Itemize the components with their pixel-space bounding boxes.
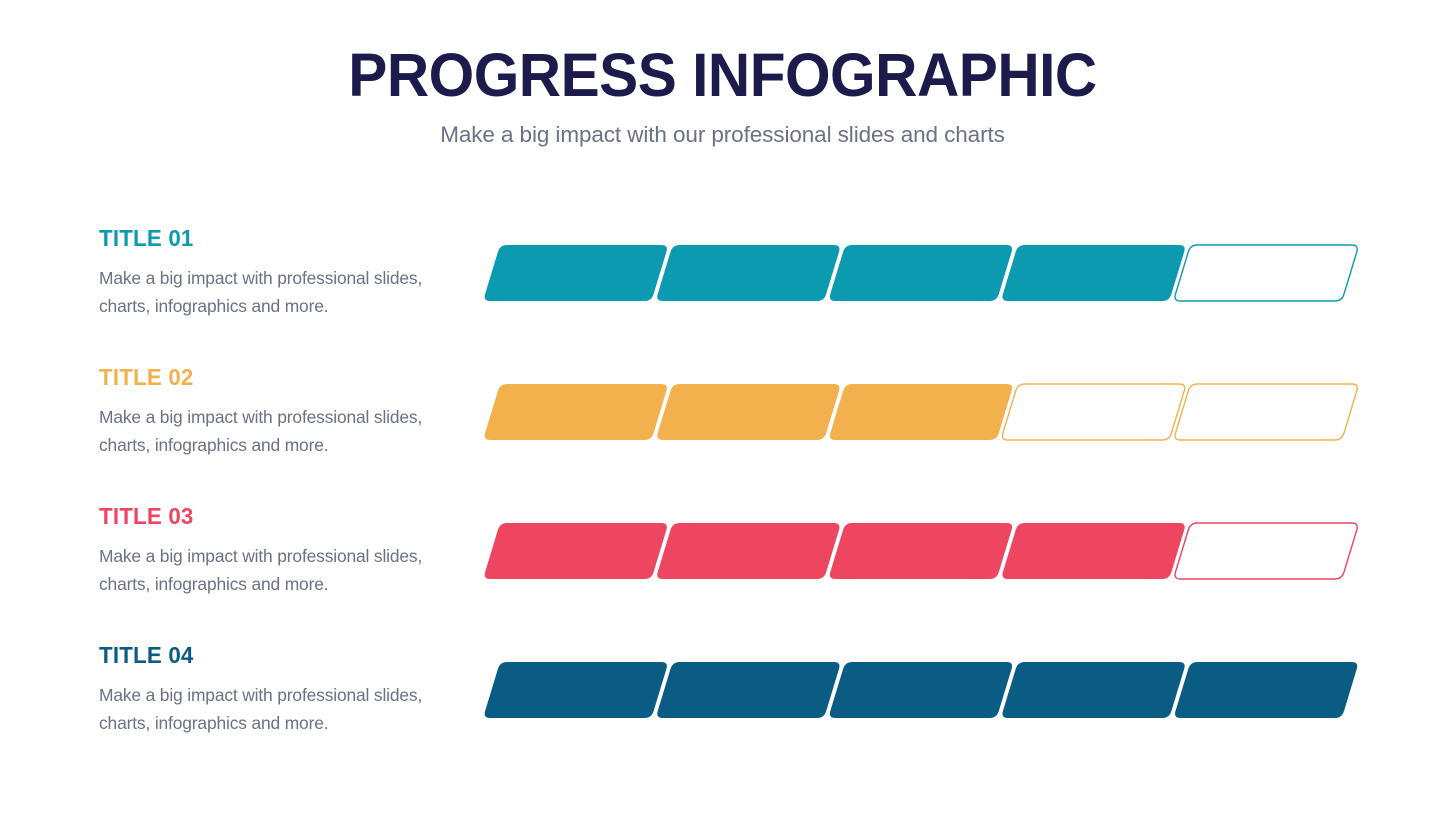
progress-segment-filled[interactable] (830, 523, 1012, 579)
progress-bar-track[interactable] (483, 661, 1363, 717)
progress-segment-filled[interactable] (657, 662, 839, 718)
row-title: TITLE 01 (99, 218, 448, 250)
progress-segment-filled[interactable] (485, 662, 667, 718)
progress-bar-track[interactable] (483, 383, 1363, 439)
progress-bar-svg (483, 244, 1363, 302)
progress-segment-filled[interactable] (1002, 245, 1184, 301)
progress-segment-filled[interactable] (657, 384, 839, 440)
progress-bar-track[interactable] (483, 522, 1363, 578)
progress-rows: TITLE 01 Make a big impact with professi… (0, 0, 1445, 813)
progress-segment-empty[interactable] (1175, 523, 1357, 579)
progress-bar-svg (483, 522, 1363, 580)
progress-segment-filled[interactable] (830, 384, 1012, 440)
progress-segment-filled[interactable] (830, 662, 1012, 718)
progress-segment-filled[interactable] (1002, 662, 1184, 718)
progress-row-4: TITLE 04 Make a big impact with professi… (0, 635, 1445, 774)
progress-bar-svg (483, 661, 1363, 719)
progress-segment-filled[interactable] (830, 245, 1012, 301)
progress-segment-filled[interactable] (485, 245, 667, 301)
row-description: Make a big impact with professional slid… (99, 389, 435, 459)
progress-segment-filled[interactable] (485, 384, 667, 440)
progress-segment-filled[interactable] (485, 523, 667, 579)
row-title: TITLE 04 (99, 635, 448, 667)
progress-segment-empty[interactable] (1175, 384, 1357, 440)
progress-segment-filled[interactable] (1175, 662, 1357, 718)
progress-row-1: TITLE 01 Make a big impact with professi… (0, 218, 1445, 357)
row-description: Make a big impact with professional slid… (99, 528, 435, 598)
row-description: Make a big impact with professional slid… (99, 667, 435, 737)
row-title: TITLE 03 (99, 496, 448, 528)
row-description: Make a big impact with professional slid… (99, 250, 435, 320)
progress-segment-filled[interactable] (657, 523, 839, 579)
progress-segment-empty[interactable] (1175, 245, 1357, 301)
progress-bar-track[interactable] (483, 244, 1363, 300)
row-text-block: TITLE 01 Make a big impact with professi… (99, 218, 459, 320)
row-title: TITLE 02 (99, 357, 448, 389)
progress-segment-filled[interactable] (657, 245, 839, 301)
row-text-block: TITLE 02 Make a big impact with professi… (99, 357, 459, 459)
progress-bar-svg (483, 383, 1363, 441)
row-text-block: TITLE 04 Make a big impact with professi… (99, 635, 459, 737)
progress-segment-filled[interactable] (1002, 523, 1184, 579)
progress-row-3: TITLE 03 Make a big impact with professi… (0, 496, 1445, 635)
progress-row-2: TITLE 02 Make a big impact with professi… (0, 357, 1445, 496)
progress-segment-empty[interactable] (1002, 384, 1184, 440)
row-text-block: TITLE 03 Make a big impact with professi… (99, 496, 459, 598)
